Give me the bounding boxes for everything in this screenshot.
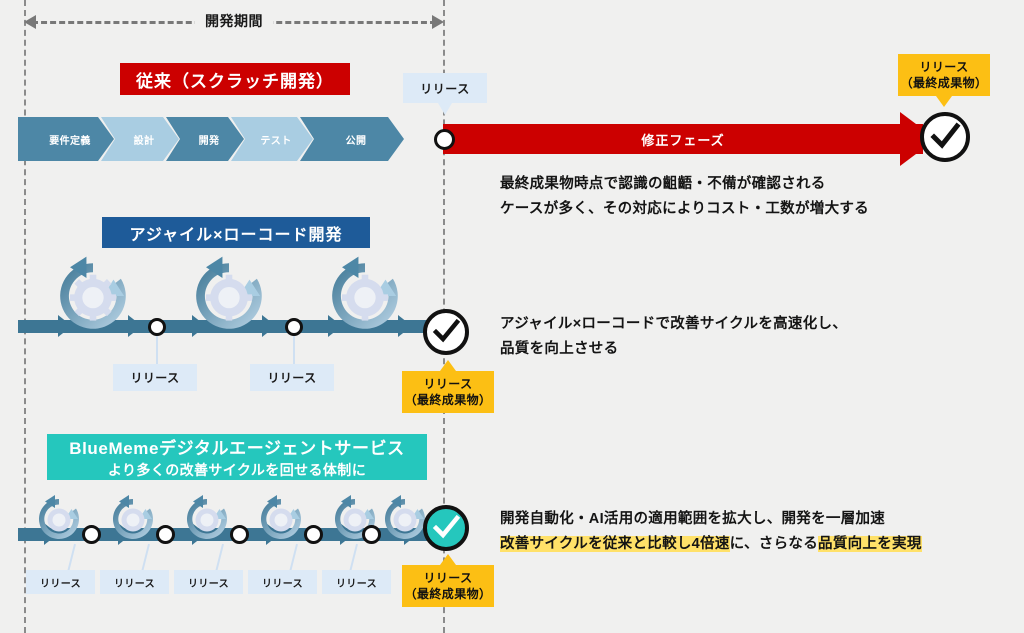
- final-release-line2: （最終成果物）: [405, 586, 492, 602]
- refresh-cycle-gear-icon: [178, 255, 280, 342]
- fix-phase-label: 修正フェーズ: [641, 130, 724, 149]
- bluememe-release-tag-3: リリース: [174, 570, 243, 594]
- bluememe-description: 開発自動化・AI活用の適用範囲を拡大し、開発を一層加速 改善サイクルを従来と比較…: [500, 507, 922, 557]
- phase-label: 要件定義: [41, 132, 91, 147]
- agile-release-tag-1: リリース: [113, 364, 197, 391]
- legacy-description-line2: ケースが多く、その対応によりコスト・工数が増大する: [500, 197, 869, 222]
- bluememe-title-line1: BlueMemeデジタルエージェントサービス: [69, 434, 405, 459]
- phase-label: 設計: [126, 132, 155, 147]
- bluememe-description-mid: に、さらなる: [730, 536, 818, 552]
- check-circle-icon: [920, 112, 970, 162]
- legacy-phase-chevrons: 要件定義 設計 開発 テスト 公開: [18, 117, 391, 161]
- refresh-cycle-gear-icon: [28, 494, 90, 549]
- check-circle-icon: [423, 309, 469, 355]
- phase-label: 開発: [191, 132, 220, 147]
- fix-phase-bar: 修正フェーズ: [443, 124, 923, 154]
- agile-release-node-1: [148, 318, 166, 336]
- bluememe-release-tag-4: リリース: [248, 570, 317, 594]
- period-label: 開発期間: [195, 8, 273, 35]
- bluememe-final-release-tag: リリース （最終成果物）: [402, 565, 494, 607]
- final-release-line2: （最終成果物）: [405, 392, 492, 408]
- phase-chevron-5: 公開: [300, 117, 404, 161]
- bluememe-release-tag-1: リリース: [26, 570, 95, 594]
- bluememe-release-node-3: [230, 525, 249, 544]
- legacy-final-release-tag: リリース （最終成果物）: [898, 54, 990, 96]
- legacy-title-chip: 従来（スクラッチ開発）: [120, 63, 350, 95]
- phase-chevron-1: 要件定義: [18, 117, 114, 161]
- arrow-left-icon: [24, 15, 36, 29]
- development-period-bar: 開発期間: [24, 9, 444, 35]
- legacy-description: 最終成果物時点で認識の齟齬・不備が確認される ケースが多く、その対応によりコスト…: [500, 172, 869, 222]
- agile-final-release-tag: リリース （最終成果物）: [402, 371, 494, 413]
- bluememe-title-line2: より多くの改善サイクルを回せる体制に: [108, 460, 366, 480]
- agile-title-chip: アジャイル×ローコード開発: [102, 217, 370, 248]
- bluememe-release-tag-2: リリース: [100, 570, 169, 594]
- refresh-cycle-gear-icon: [42, 255, 144, 342]
- bluememe-description-line1: 開発自動化・AI活用の適用範囲を拡大し、開発を一層加速: [500, 507, 922, 532]
- refresh-cycle-gear-icon: [102, 494, 164, 549]
- refresh-cycle-gear-icon: [250, 494, 312, 549]
- final-release-line2: （最終成果物）: [901, 75, 988, 91]
- bluememe-highlight-quality: 品質向上を実現: [818, 536, 922, 552]
- phase-label: 公開: [338, 132, 367, 147]
- agile-release-tag-2: リリース: [250, 364, 334, 391]
- bluememe-release-tag-5: リリース: [322, 570, 391, 594]
- agile-description-line2: 品質を向上させる: [500, 337, 847, 362]
- bluememe-release-node-1: [82, 525, 101, 544]
- bluememe-release-node-5: [362, 525, 381, 544]
- check-circle-icon: [423, 505, 469, 551]
- legacy-handoff-node: [434, 129, 455, 150]
- bluememe-highlight-speed: 改善サイクルを従来と比較し4倍速: [500, 536, 730, 552]
- phase-label: テスト: [252, 132, 291, 147]
- bluememe-description-line2: 改善サイクルを従来と比較し4倍速に、さらなる品質向上を実現: [500, 532, 922, 557]
- bluememe-release-node-4: [304, 525, 323, 544]
- refresh-cycle-gear-icon: [176, 494, 238, 549]
- final-release-line1: リリース: [423, 570, 472, 586]
- final-release-line1: リリース: [919, 59, 968, 75]
- legacy-description-line1: 最終成果物時点で認識の齟齬・不備が確認される: [500, 172, 869, 197]
- bluememe-title-chip: BlueMemeデジタルエージェントサービス より多くの改善サイクルを回せる体制…: [47, 434, 427, 480]
- final-release-line1: リリース: [423, 376, 472, 392]
- agile-description: アジャイル×ローコードで改善サイクルを高速化し、 品質を向上させる: [500, 312, 847, 362]
- bluememe-release-node-2: [156, 525, 175, 544]
- arrow-right-icon: [432, 15, 444, 29]
- legacy-release-callout: リリース: [403, 73, 487, 103]
- infographic-canvas: 開発期間 従来（スクラッチ開発） 要件定義 設計 開発 テスト 公開 リリース …: [0, 0, 1024, 633]
- agile-connector-2: [293, 336, 295, 364]
- agile-connector-1: [156, 336, 158, 364]
- agile-release-node-2: [285, 318, 303, 336]
- agile-description-line1: アジャイル×ローコードで改善サイクルを高速化し、: [500, 312, 847, 337]
- refresh-cycle-gear-icon: [314, 255, 416, 342]
